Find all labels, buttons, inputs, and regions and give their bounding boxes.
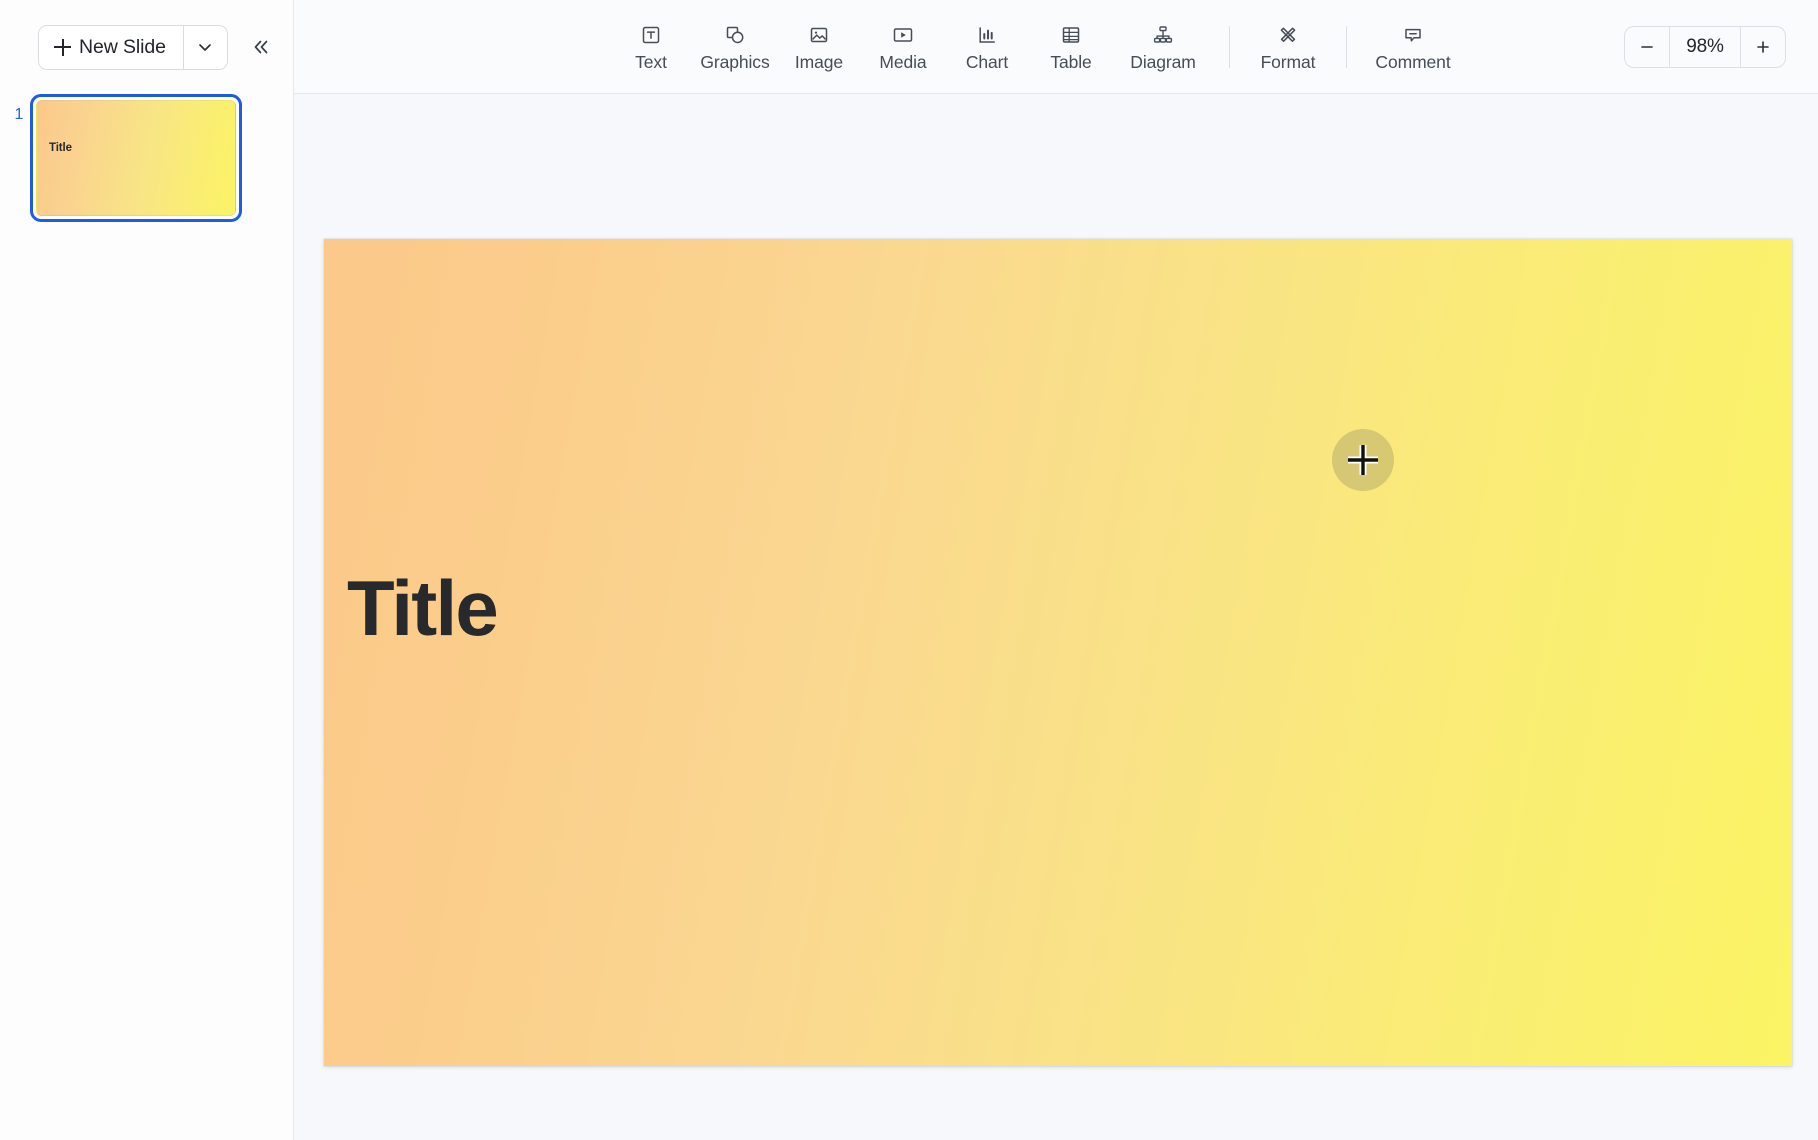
slide-canvas-area: Title bbox=[294, 94, 1818, 1140]
tool-graphics[interactable]: Graphics bbox=[693, 19, 777, 75]
tool-text[interactable]: Text bbox=[609, 19, 693, 75]
chevron-down-icon bbox=[196, 38, 214, 56]
brushes-icon bbox=[1276, 23, 1300, 47]
plus-icon bbox=[54, 39, 71, 56]
slide-thumbnail-preview: Title bbox=[36, 100, 236, 216]
image-icon bbox=[807, 23, 831, 47]
minus-icon bbox=[1638, 38, 1656, 56]
slide-thumbnail-1[interactable]: Title bbox=[30, 94, 242, 222]
tool-table[interactable]: Table bbox=[1029, 19, 1113, 75]
tool-comment[interactable]: Comment bbox=[1363, 19, 1463, 75]
tool-comment-label: Comment bbox=[1375, 52, 1450, 73]
new-slide-dropdown-button[interactable] bbox=[183, 26, 227, 69]
slide-thumbnail-list: 1 Title bbox=[0, 94, 293, 222]
tool-image-label: Image bbox=[795, 52, 843, 73]
shapes-icon bbox=[723, 23, 747, 47]
slides-sidebar: New Slide 1 Title bbox=[0, 0, 294, 1140]
toolbar-divider-1 bbox=[1229, 26, 1230, 68]
tool-format[interactable]: Format bbox=[1246, 19, 1330, 75]
zoom-level-value[interactable]: 98% bbox=[1669, 27, 1741, 67]
zoom-out-button[interactable] bbox=[1625, 27, 1669, 67]
insert-toolbar: Text Graphics bbox=[294, 0, 1818, 94]
slide-thumbnail-title: Title bbox=[49, 142, 72, 154]
tool-chart-label: Chart bbox=[966, 52, 1008, 73]
toolbar-tool-group: Text Graphics bbox=[609, 19, 1463, 75]
chevrons-left-icon bbox=[250, 36, 272, 58]
collapse-sidebar-button[interactable] bbox=[244, 30, 278, 64]
media-play-icon bbox=[891, 23, 915, 47]
slide-canvas[interactable]: Title bbox=[324, 239, 1792, 1066]
tool-media[interactable]: Media bbox=[861, 19, 945, 75]
tool-format-label: Format bbox=[1261, 52, 1316, 73]
zoom-in-button[interactable] bbox=[1741, 27, 1785, 67]
tool-diagram-label: Diagram bbox=[1130, 52, 1195, 73]
slide-number: 1 bbox=[8, 94, 30, 124]
editor-main: Text Graphics bbox=[294, 0, 1818, 1140]
tool-table-label: Table bbox=[1050, 52, 1091, 73]
org-chart-icon bbox=[1151, 23, 1175, 47]
tool-chart[interactable]: Chart bbox=[945, 19, 1029, 75]
tool-image[interactable]: Image bbox=[777, 19, 861, 75]
sidebar-toolbar: New Slide bbox=[0, 0, 293, 94]
zoom-control: 98% bbox=[1624, 26, 1786, 68]
comment-bubble-icon bbox=[1401, 23, 1425, 47]
new-slide-button[interactable]: New Slide bbox=[39, 26, 183, 69]
tool-diagram[interactable]: Diagram bbox=[1113, 19, 1213, 75]
new-slide-group: New Slide bbox=[38, 25, 228, 70]
slide-title-textbox[interactable]: Title bbox=[347, 569, 497, 647]
text-box-icon bbox=[639, 23, 663, 47]
new-slide-label: New Slide bbox=[79, 36, 166, 59]
tool-media-label: Media bbox=[879, 52, 926, 73]
plus-icon bbox=[1754, 38, 1772, 56]
presentation-editor: New Slide 1 Title bbox=[0, 0, 1818, 1140]
toolbar-divider-2 bbox=[1346, 26, 1347, 68]
slide-list-item[interactable]: 1 Title bbox=[0, 94, 293, 222]
bar-chart-icon bbox=[975, 23, 999, 47]
tool-text-label: Text bbox=[635, 52, 667, 73]
table-grid-icon bbox=[1059, 23, 1083, 47]
tool-graphics-label: Graphics bbox=[700, 52, 769, 73]
